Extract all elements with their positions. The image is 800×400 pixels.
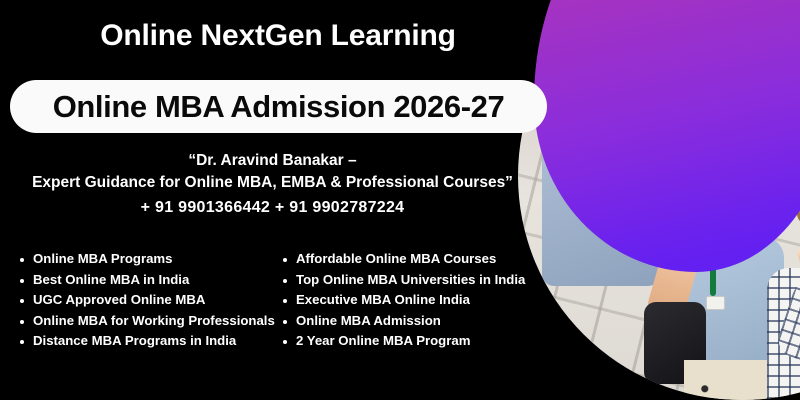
list-item: Executive MBA Online India [283, 290, 525, 311]
list-item: Best Online MBA in India [20, 270, 275, 291]
list-item: Online MBA for Working Professionals [20, 311, 275, 332]
list-item: Online MBA Admission [283, 311, 525, 332]
list-item: 2 Year Online MBA Program [283, 331, 525, 352]
keyword-list-right: Affordable Online MBA Courses Top Online… [283, 249, 525, 352]
headline-text: Online MBA Admission 2026-27 [53, 89, 505, 125]
quote-line-2: Expert Guidance for Online MBA, EMBA & P… [0, 172, 545, 194]
headline-pill: Online MBA Admission 2026-27 [10, 80, 547, 133]
brand-title: Online NextGen Learning [0, 19, 556, 53]
quote-line-1: “Dr. Aravind Banakar – [0, 150, 545, 172]
list-item: UGC Approved Online MBA [20, 290, 275, 311]
list-item: Distance MBA Programs in India [20, 331, 275, 352]
list-item: Top Online MBA Universities in India [283, 270, 525, 291]
list-item: Affordable Online MBA Courses [283, 249, 525, 270]
quote-block: “Dr. Aravind Banakar – Expert Guidance f… [0, 150, 545, 219]
keyword-list-left: Online MBA Programs Best Online MBA in I… [20, 249, 275, 352]
promo-banner: Online NextGen Learning Online MBA Admis… [0, 0, 800, 400]
list-item: Online MBA Programs [20, 249, 275, 270]
phone-numbers: + 91 9901366442 + 91 9902787224 [0, 197, 545, 219]
